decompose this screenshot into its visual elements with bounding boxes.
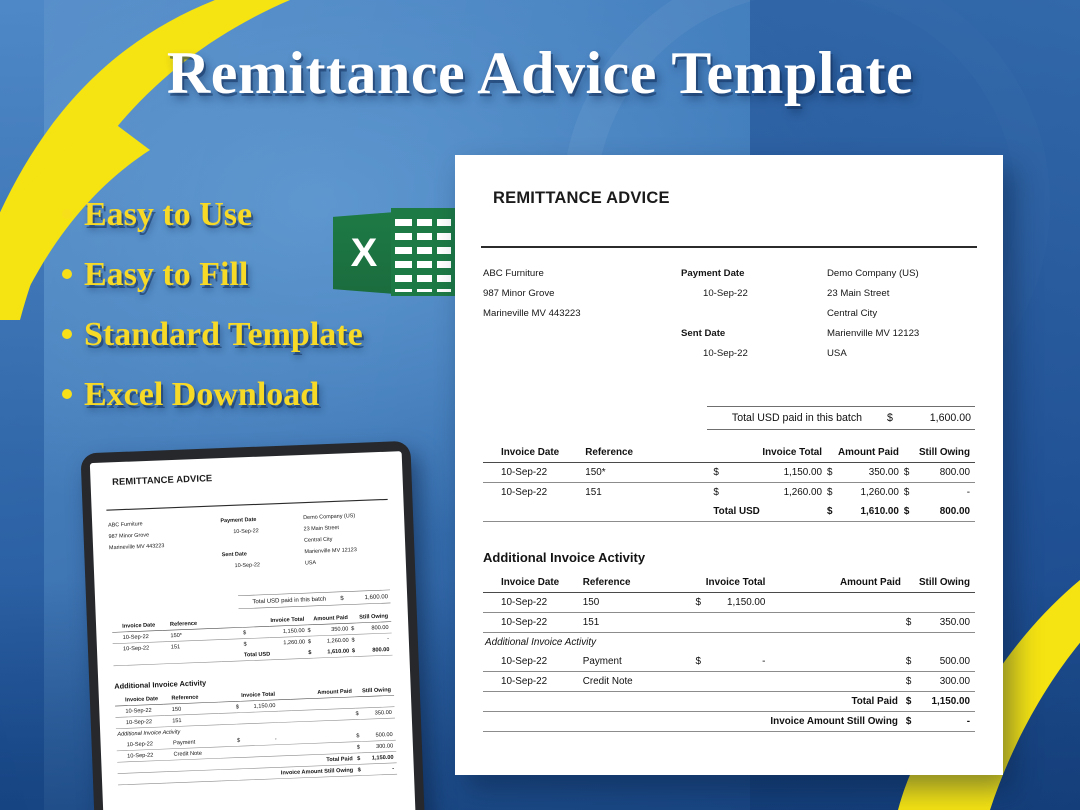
dates-block: Payment Date 10-Sep-22 Sent Date 10-Sep-… — [681, 264, 827, 364]
table-row: 10-Sep-22 150* $ 1,150.00 $ 350.00 $ 800… — [483, 463, 975, 483]
activity-table-header: Invoice Date Reference Invoice Total Amo… — [483, 574, 975, 593]
invoice-total-paid-currency: $ — [827, 502, 836, 522]
cell-owing-currency: $ — [904, 463, 913, 483]
bullet-dot-icon — [62, 269, 72, 279]
col-amount-paid: Amount Paid — [836, 444, 904, 463]
document-top-rule — [481, 246, 977, 248]
cell-amount-paid — [793, 652, 906, 672]
col-invoice-total: Invoice Total — [760, 444, 827, 463]
invoice-total-paid: 1,610.00 — [836, 502, 904, 522]
mini-cell-paid-currency — [278, 699, 291, 711]
table-row: 10-Sep-22 Credit Note $ 300.00 — [483, 672, 975, 692]
mini-cell-paid-currency — [280, 744, 293, 756]
invoice-table: Invoice Date Reference Invoice Total Amo… — [483, 444, 975, 522]
feature-item: Standard Template — [62, 316, 462, 354]
mini-document-meta: ABC Furniture 987 Minor Grove Marinevill… — [108, 509, 389, 576]
col-invoice-date: Invoice Date — [483, 444, 571, 463]
tablet-screen: REMITTANCE ADVICE ABC Furniture 987 Mino… — [90, 451, 417, 810]
mini-batch-total-label: Total USD paid in this batch — [238, 595, 340, 606]
excel-icon-letter: X — [333, 212, 395, 294]
cell-still-owing: 800.00 — [913, 463, 975, 483]
table-row: 10-Sep-22 151 $ 1,260.00 $ 1,260.00 $ - — [483, 483, 975, 503]
invoice-total-owing: 800.00 — [913, 502, 975, 522]
cell-paid-currency — [770, 672, 792, 692]
cell-amount-paid — [793, 613, 906, 633]
invoice-total-row: Total USD $ 1,610.00 $ 800.00 — [483, 502, 975, 522]
cell-invoice-total: 1,260.00 — [760, 483, 827, 503]
mini-document-heading: REMITTANCE ADVICE — [112, 466, 393, 488]
col-still-owing: Still Owing — [913, 444, 975, 463]
col-invoice-date: Invoice Date — [483, 574, 569, 593]
excel-icon: X — [333, 208, 455, 296]
tablet-mockup: REMITTANCE ADVICE ABC Furniture 987 Mino… — [80, 441, 425, 810]
sender-line-3: Marineville MV 443223 — [483, 304, 681, 324]
cell-invoice-total: - — [704, 652, 771, 672]
cell-amount-paid: 350.00 — [836, 463, 904, 483]
activity-total-row: Total Paid $ 1,150.00 — [483, 692, 975, 712]
cell-paid-currency: $ — [827, 463, 836, 483]
table-row: 10-Sep-22 Payment $ - $ 500.00 — [483, 652, 975, 672]
activity-owing-row: Invoice Amount Still Owing $ - — [483, 712, 975, 732]
feature-label: Standard Template — [84, 316, 363, 354]
cell-invoice-currency: $ — [713, 483, 759, 503]
still-owing-label: Invoice Amount Still Owing — [770, 712, 905, 732]
payment-date-label: Payment Date — [681, 264, 827, 284]
cell-invoice-currency — [696, 613, 704, 633]
col-invoice-total: Invoice Total — [704, 574, 771, 593]
recipient-line-5: USA — [827, 344, 975, 364]
total-paid-currency: $ — [906, 692, 914, 712]
cell-date: 10-Sep-22 — [483, 652, 569, 672]
mini-invoice-total-paid: 1,610.00 — [313, 646, 352, 659]
bullet-dot-icon — [62, 209, 72, 219]
cell-invoice-total: 1,150.00 — [760, 463, 827, 483]
mini-batch-total-amount: 1,600.00 — [353, 593, 391, 601]
col-reference: Reference — [571, 444, 674, 463]
sent-date-value: 10-Sep-22 — [681, 344, 827, 364]
activity-table: Invoice Date Reference Invoice Total Amo… — [483, 574, 975, 732]
mini-batch-total-currency: $ — [340, 594, 353, 601]
recipient-block: Demo Company (US) 23 Main Street Central… — [827, 264, 975, 364]
cell-reference: Credit Note — [569, 672, 665, 692]
cell-date: 10-Sep-22 — [483, 672, 569, 692]
poster-canvas: Remittance Advice Template Easy to Use E… — [0, 0, 1080, 810]
batch-total-row: Total USD paid in this batch $ 1,600.00 — [707, 406, 975, 430]
still-owing-currency: $ — [906, 712, 914, 732]
cell-reference: 151 — [569, 613, 665, 633]
feature-label: Excel Download — [84, 376, 319, 414]
bullet-dot-icon — [62, 389, 72, 399]
cell-owing-currency: $ — [904, 483, 913, 503]
cell-invoice-currency: $ — [696, 593, 704, 613]
cell-invoice-currency: $ — [713, 463, 759, 483]
cell-still-owing: 500.00 — [914, 652, 975, 672]
document-heading: REMITTANCE ADVICE — [493, 189, 987, 208]
recipient-line-1: Demo Company (US) — [827, 264, 975, 284]
mini-invoice-total-label: Total USD — [244, 649, 271, 661]
excel-icon-grid-panel — [391, 208, 455, 296]
activity-subheading: Additional Invoice Activity — [483, 633, 975, 653]
cell-owing-currency: $ — [906, 672, 914, 692]
sender-line-1: ABC Furniture — [483, 264, 681, 284]
recipient-line-4: Marienville MV 12123 — [827, 324, 975, 344]
cell-invoice-total: 1,150.00 — [704, 593, 771, 613]
sender-block: ABC Furniture 987 Minor Grove Marinevill… — [483, 264, 681, 364]
activity-section-heading: Additional Invoice Activity — [483, 550, 975, 565]
table-row: 10-Sep-22 150 $ 1,150.00 — [483, 593, 975, 613]
page-title: Remittance Advice Template — [100, 42, 980, 105]
payment-date-value: 10-Sep-22 — [681, 284, 827, 304]
sent-date-label: Sent Date — [681, 324, 827, 344]
col-reference: Reference — [569, 574, 665, 593]
invoice-total-label: Total USD — [713, 502, 759, 522]
bullet-dot-icon — [62, 329, 72, 339]
col-still-owing: Still Owing — [914, 574, 975, 593]
recipient-line-3: Central City — [827, 304, 975, 324]
mini-cell-paid-currency — [278, 711, 291, 723]
batch-total-label: Total USD paid in this batch — [707, 412, 887, 424]
feature-label: Easy to Fill — [84, 256, 248, 294]
invoice-table-header: Invoice Date Reference Invoice Total Amo… — [483, 444, 975, 463]
cell-owing-currency — [906, 593, 914, 613]
col-amount-paid: Amount Paid — [793, 574, 906, 593]
document-body: REMITTANCE ADVICE ABC Furniture 987 Mino… — [455, 155, 1003, 732]
cell-invoice-total — [704, 613, 771, 633]
activity-subheading-row: Additional Invoice Activity — [483, 633, 975, 653]
cell-invoice-total — [704, 672, 771, 692]
cell-paid-currency: $ — [827, 483, 836, 503]
sender-line-2: 987 Minor Grove — [483, 284, 681, 304]
cell-date: 10-Sep-22 — [483, 593, 569, 613]
mini-invoice-table: Invoice Date Reference Invoice Total Amo… — [112, 611, 393, 666]
cell-amount-paid — [793, 593, 906, 613]
cell-invoice-currency: $ — [696, 652, 704, 672]
batch-total-currency: $ — [887, 412, 909, 424]
mini-cell-paid-currency — [279, 733, 292, 745]
tablet-document: REMITTANCE ADVICE ABC Furniture 987 Mino… — [90, 451, 413, 786]
cell-paid-currency — [770, 593, 792, 613]
mini-still-owing-label: Invoice Amount Still Owing — [281, 764, 358, 778]
mini-activity-table: Invoice Date Reference Invoice Total Amo… — [115, 685, 397, 785]
cell-invoice-currency — [696, 672, 704, 692]
still-owing-amount: - — [914, 712, 975, 732]
excel-grid-lines — [395, 212, 451, 292]
cell-reference: 150* — [571, 463, 674, 483]
cell-reference: Payment — [569, 652, 665, 672]
total-paid-amount: 1,150.00 — [914, 692, 975, 712]
feature-label: Easy to Use — [84, 196, 252, 234]
mini-top-rule — [106, 499, 387, 511]
cell-date: 10-Sep-22 — [483, 613, 569, 633]
cell-paid-currency — [770, 613, 792, 633]
invoice-total-owing-currency: $ — [904, 502, 913, 522]
cell-still-owing: 350.00 — [914, 613, 975, 633]
cell-date: 10-Sep-22 — [483, 463, 571, 483]
table-row: 10-Sep-22 151 $ 350.00 — [483, 613, 975, 633]
feature-item: Excel Download — [62, 376, 462, 414]
cell-owing-currency: $ — [906, 613, 914, 633]
cell-reference: 150 — [569, 593, 665, 613]
cell-still-owing: 300.00 — [914, 672, 975, 692]
batch-total-amount: 1,600.00 — [909, 412, 975, 424]
cell-still-owing — [914, 593, 975, 613]
remittance-document: REMITTANCE ADVICE ABC Furniture 987 Mino… — [455, 155, 1003, 775]
cell-amount-paid — [793, 672, 906, 692]
mini-invoice-total-owing: 800.00 — [357, 644, 393, 656]
cell-owing-currency: $ — [906, 652, 914, 672]
cell-still-owing: - — [913, 483, 975, 503]
document-meta: ABC Furniture 987 Minor Grove Marinevill… — [483, 264, 975, 364]
cell-paid-currency — [770, 652, 792, 672]
cell-reference: 151 — [571, 483, 674, 503]
recipient-line-2: 23 Main Street — [827, 284, 975, 304]
cell-amount-paid: 1,260.00 — [836, 483, 904, 503]
total-paid-label: Total Paid — [770, 692, 905, 712]
cell-date: 10-Sep-22 — [483, 483, 571, 503]
mini-sent-date-value: 10-Sep-22 — [222, 558, 305, 573]
mini-still-owing-amount: - — [362, 763, 397, 776]
